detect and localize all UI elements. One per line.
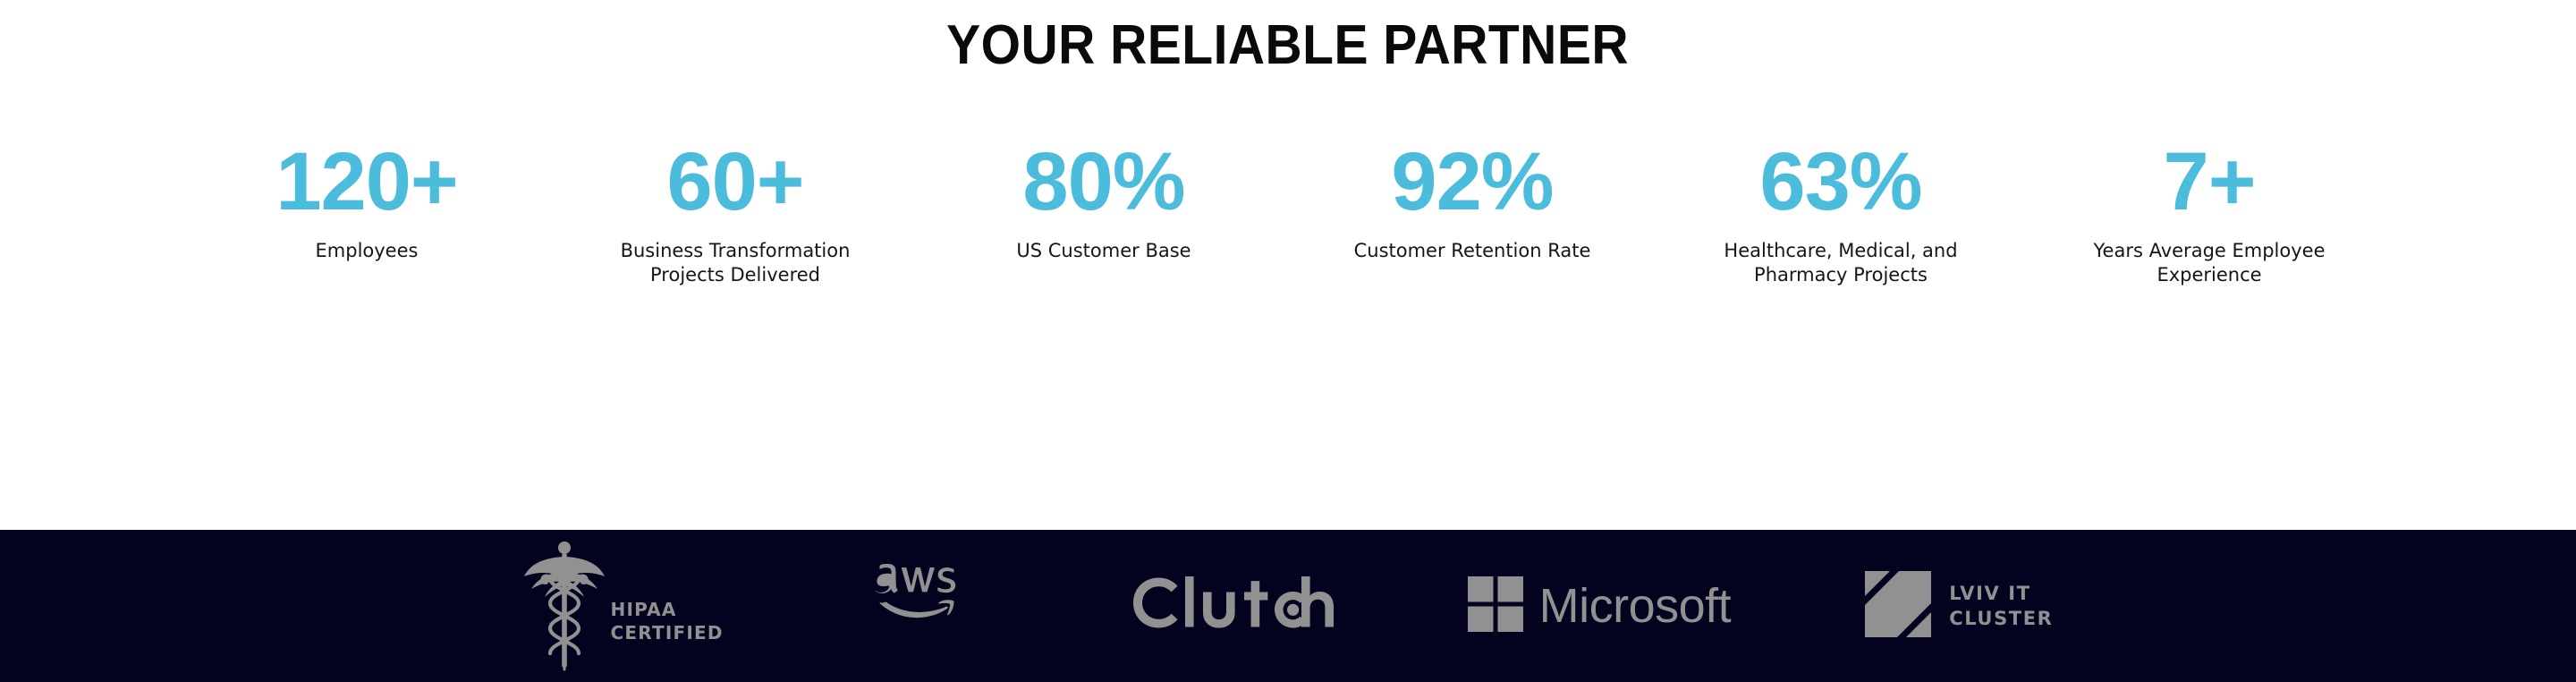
stat-label: Years Average Employee Experience — [2094, 239, 2326, 288]
stats-row: 120+ Employees 60+ Business Transformati… — [0, 116, 2576, 530]
stat-label: Healthcare, Medical, and Pharmacy Projec… — [1724, 239, 1957, 288]
stat-value: 120+ — [275, 141, 457, 222]
stat-card-us-customer-base: 80% US Customer Base — [919, 141, 1288, 263]
stats-section: YOUR RELIABLE PARTNER 120+ Employees 60+… — [0, 0, 2576, 682]
page-title: YOUR RELIABLE PARTNER — [947, 18, 1630, 73]
logo-microsoft: Microsoft — [1468, 576, 1732, 636]
heading-container: YOUR RELIABLE PARTNER — [0, 0, 2576, 116]
lviv-line-1: LVIV IT — [1949, 581, 2053, 606]
stat-value: 7+ — [2164, 141, 2256, 222]
logo-lviv-it-cluster: LVIV IT CLUSTER — [1865, 571, 2053, 642]
stat-value: 80% — [1022, 141, 1184, 222]
stat-label: US Customer Base — [1016, 239, 1191, 263]
stat-label: Customer Retention Rate — [1354, 239, 1591, 263]
lviv-line-2: CLUSTER — [1949, 606, 2053, 631]
hipaa-wordmark: HIPAA CERTIFIED — [611, 598, 724, 645]
stat-card-projects-delivered: 60+ Business Transformation Projects Del… — [551, 141, 919, 288]
hipaa-line-2: CERTIFIED — [611, 621, 724, 644]
stat-value: 60+ — [666, 141, 803, 222]
caduceus-icon — [523, 537, 606, 676]
clutch-icon — [1126, 572, 1334, 641]
stat-label: Employees — [316, 239, 419, 263]
hipaa-line-1: HIPAA — [611, 598, 724, 621]
stat-value: 63% — [1759, 141, 1921, 222]
logo-hipaa-certified: HIPAA CERTIFIED — [523, 537, 724, 676]
logo-aws — [858, 562, 992, 651]
stat-card-employees: 120+ Employees — [182, 141, 551, 263]
stat-card-customer-retention: 92% Customer Retention Rate — [1288, 141, 1657, 263]
microsoft-wordmark: Microsoft — [1539, 582, 1732, 630]
stat-card-employee-experience: 7+ Years Average Employee Experience — [2025, 141, 2394, 288]
stat-label: Business Transformation Projects Deliver… — [621, 239, 851, 288]
aws-icon — [858, 562, 992, 651]
microsoft-squares-icon — [1468, 576, 1523, 636]
lviv-cluster-mark-icon — [1865, 571, 1931, 642]
stat-value: 92% — [1391, 141, 1553, 222]
partner-logo-bar: HIPAA CERTIFIED — [0, 530, 2576, 682]
lviv-wordmark: LVIV IT CLUSTER — [1949, 581, 2053, 632]
stat-card-healthcare-projects: 63% Healthcare, Medical, and Pharmacy Pr… — [1657, 141, 2025, 288]
logo-clutch — [1126, 572, 1334, 641]
